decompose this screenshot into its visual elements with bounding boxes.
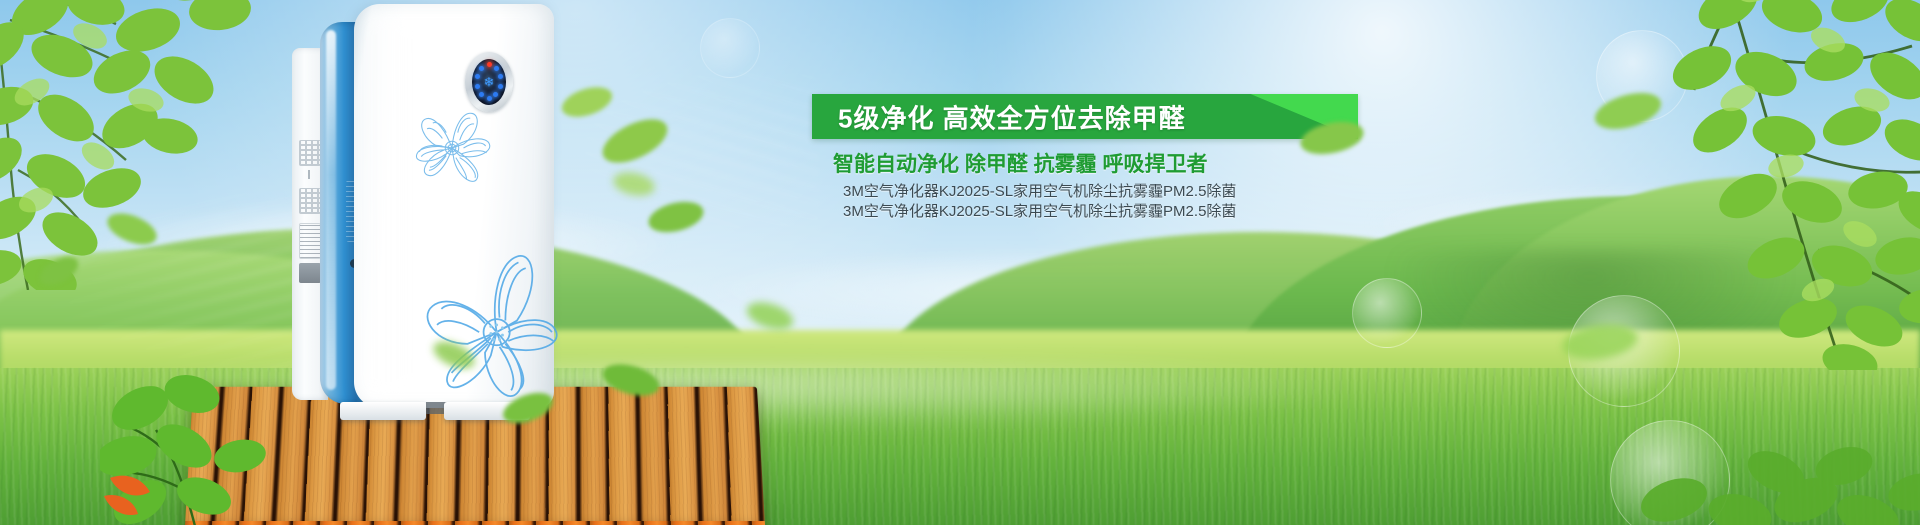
floating-leaf [598, 118, 672, 164]
purifier-foot-left [340, 402, 426, 420]
body-reflection [362, 14, 414, 398]
floating-leaf [1592, 90, 1664, 132]
product-banner: ❄ 5级净化 高效全方位去除甲醛 智能自动净化 除甲醛 抗雾霾 呼吸捍卫者 3M… [0, 0, 1920, 525]
side-marker [308, 170, 310, 179]
description-line-2: 3M空气净化器KJ2025-SL家用空气机除尘抗雾霾PM2.5除菌 [843, 200, 1236, 221]
floating-leaf [500, 390, 556, 426]
floating-leaf [744, 300, 796, 332]
floating-leaf [600, 360, 662, 400]
floating-leaf [612, 170, 656, 198]
headline-banner: 5级净化 高效全方位去除甲醛 [812, 94, 1358, 139]
led-indicator [487, 96, 492, 101]
bokeh-circle [1352, 278, 1422, 348]
warning-label [299, 223, 321, 259]
floating-leaf [104, 212, 160, 246]
air-purifier: ❄ [292, 4, 554, 408]
flower-decal-upper [404, 100, 500, 196]
dial-display: ❄ [472, 59, 506, 105]
spec-label [299, 263, 321, 283]
deck-front-edge [184, 521, 766, 525]
floating-leaf [646, 198, 706, 236]
flower-decal-lower [410, 242, 560, 402]
led-indicator-alert [487, 62, 492, 67]
subtitle-text: 智能自动净化 除甲醛 抗雾霾 呼吸捍卫者 [833, 148, 1208, 178]
led-indicator [475, 74, 480, 79]
bokeh-circle [700, 18, 760, 78]
description-line-1: 3M空气净化器KJ2025-SL家用空气机除尘抗雾霾PM2.5除菌 [843, 180, 1236, 201]
floating-leaf [1298, 118, 1366, 158]
led-indicator [498, 84, 503, 89]
led-indicator [479, 66, 484, 71]
snowflake-icon: ❄ [484, 76, 495, 89]
vent-grille-lower [299, 188, 321, 214]
headline-text: 5级净化 高效全方位去除甲醛 [838, 98, 1186, 135]
blue-panel-highlight [326, 30, 336, 390]
control-panel-dial[interactable]: ❄ [465, 52, 513, 112]
led-indicator [493, 92, 498, 97]
floating-leaf [36, 256, 82, 286]
led-indicator [475, 84, 480, 89]
floating-leaf [560, 85, 614, 119]
led-indicator [479, 92, 484, 97]
led-indicator [498, 74, 503, 79]
vent-grille-upper [299, 140, 321, 166]
floating-leaf [430, 340, 478, 370]
floating-leaf [1560, 320, 1640, 364]
led-indicator [494, 66, 499, 71]
